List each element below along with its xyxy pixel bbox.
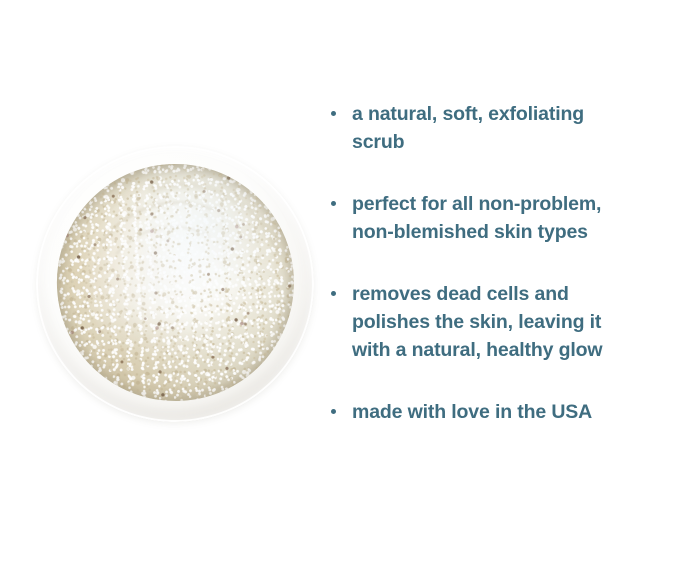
- feature-label: perfect for all non-problem, non-blemish…: [352, 190, 601, 246]
- bullet-icon: [331, 409, 336, 414]
- feature-list: a natural, soft, exfoliating scrub perfe…: [331, 100, 671, 426]
- scrub-contents: [50, 158, 300, 407]
- feature-label: removes dead cells and polishes the skin…: [352, 280, 602, 364]
- product-feature-page: a natural, soft, exfoliating scrub perfe…: [0, 0, 679, 580]
- list-item: made with love in the USA: [331, 398, 671, 426]
- list-item: perfect for all non-problem, non-blemish…: [331, 190, 671, 246]
- list-item: a natural, soft, exfoliating scrub: [331, 100, 671, 156]
- bullet-icon: [331, 201, 336, 206]
- bullet-icon: [331, 291, 336, 296]
- scrub-jar-icon: [29, 139, 321, 429]
- product-image: [36, 146, 314, 422]
- list-item: removes dead cells and polishes the skin…: [331, 280, 671, 364]
- feature-label: a natural, soft, exfoliating scrub: [352, 100, 584, 156]
- feature-label: made with love in the USA: [352, 398, 592, 426]
- bullet-icon: [331, 111, 336, 116]
